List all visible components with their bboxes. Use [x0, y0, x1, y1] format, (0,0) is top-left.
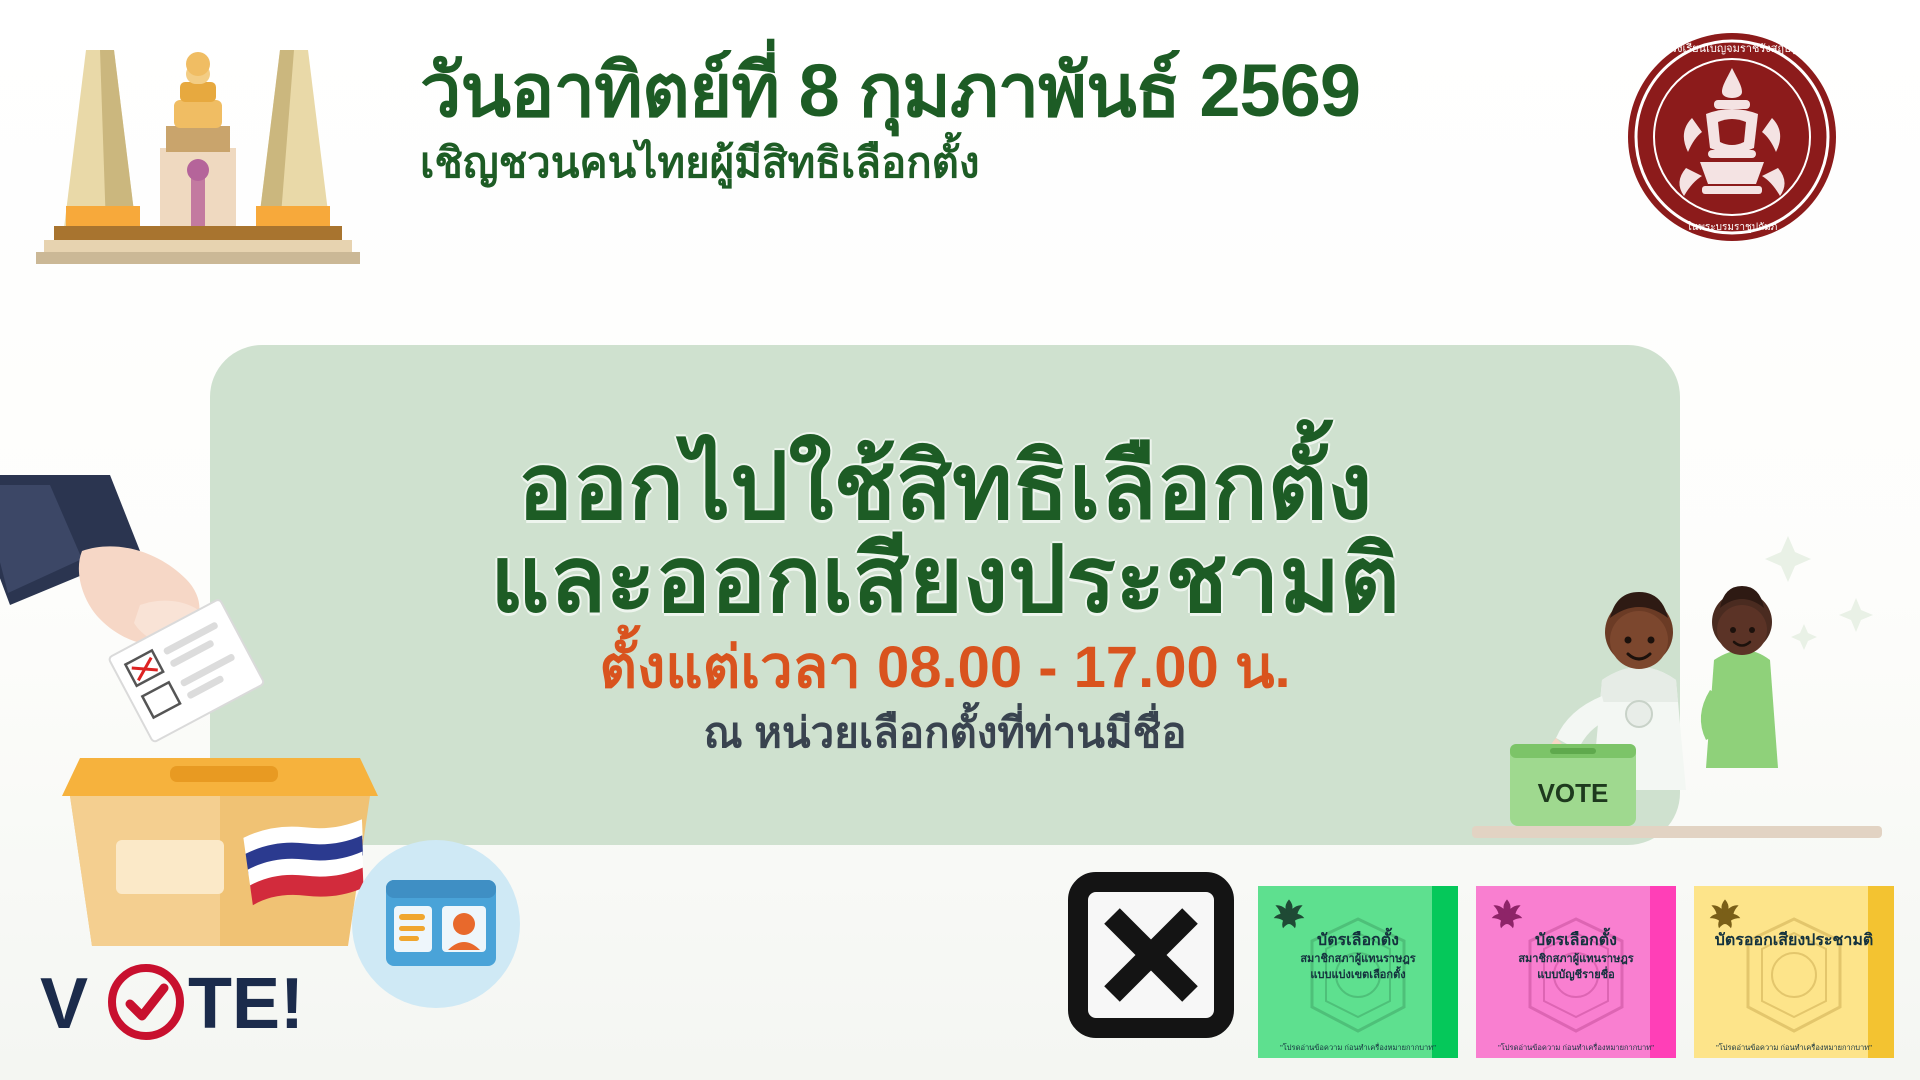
id-card-icon — [386, 880, 496, 966]
card-note: "โปรดอ่านข้อความ ก่อนทำเครื่องหมายกากบาท… — [1694, 1044, 1894, 1052]
ballot-cards-group: บัตรเลือกตั้ง สมาชิกสภาผู้แทนราษฎร แบบแบ… — [1258, 886, 1894, 1058]
election-poster: วันอาทิตย์ที่ 8 กุมภาพันธ์ 2569 เชิญชวนค… — [0, 0, 1920, 1080]
ballot-card-green: บัตรเลือกตั้ง สมาชิกสภาผู้แทนราษฎร แบบแบ… — [1258, 886, 1458, 1058]
x-mark-checkbox-icon — [1068, 872, 1234, 1038]
card-note: "โปรดอ่านข้อความ ก่อนทำเครื่องหมายกากบาท… — [1476, 1044, 1676, 1052]
card-sub-1: สมาชิกสภาผู้แทนราษฎร — [1264, 953, 1452, 967]
header-date: วันอาทิตย์ที่ 8 กุมภาพันธ์ 2569 — [420, 52, 1620, 130]
card-title: บัตรเลือกตั้ง — [1264, 932, 1452, 950]
vote-logo: V TE! — [40, 962, 370, 1048]
card-title: บัตรออกเสียงประชามติ — [1700, 932, 1888, 950]
voting-place-line: ณ หน่วยเลือกตั้งที่ท่านมีชื่อ — [704, 708, 1187, 758]
seal-top-text: โรงเรียนเบญจมราชรังสฤษฎิ์ — [1665, 40, 1800, 55]
garuda-emblem-icon — [1708, 896, 1742, 930]
ballot-box-icon — [60, 700, 400, 960]
card-sub-1: สมาชิกสภาผู้แทนราษฎร — [1482, 953, 1670, 967]
voting-time-line: ตั้งแต่เวลา 08.00 - 17.00 น. — [599, 635, 1290, 702]
card-title: บัตรเลือกตั้ง — [1482, 932, 1670, 950]
garuda-emblem-icon — [1272, 896, 1306, 930]
header-text-block: วันอาทิตย์ที่ 8 กุมภาพันธ์ 2569 เชิญชวนค… — [420, 52, 1620, 188]
people-voting-icon: VOTE — [1452, 500, 1892, 840]
ballot-card-yellow: บัตรออกเสียงประชามติ "โปรดอ่านข้อความ ก่… — [1694, 886, 1894, 1058]
seal-bottom-text: ในพระบรมราชูปถัมภ์ — [1687, 221, 1778, 233]
card-note: "โปรดอ่านข้อความ ก่อนทำเครื่องหมายกากบาท… — [1258, 1044, 1458, 1052]
ballot-card-pink: บัตรเลือกตั้ง สมาชิกสภาผู้แทนราษฎร แบบบั… — [1476, 886, 1676, 1058]
vote-logo-text: V — [40, 964, 88, 1044]
democracy-monument-icon — [28, 20, 368, 290]
garuda-emblem-icon — [1490, 896, 1524, 930]
headline-line-1: ออกไปใช้สิทธิเลือกตั้ง — [518, 438, 1373, 537]
card-sub-2: แบบบัญชีรายชื่อ — [1482, 969, 1670, 983]
card-sub-2: แบบแบ่งเขตเลือกตั้ง — [1264, 969, 1452, 983]
header-subtitle: เชิญชวนคนไทยผู้มีสิทธิเลือกตั้ง — [420, 138, 1620, 188]
svg-text:TE!: TE! — [188, 964, 304, 1044]
school-seal-icon: โรงเรียนเบญจมราชรังสฤษฎิ์ ในพระบรมราชูปถ… — [1622, 22, 1842, 252]
headline-line-2: และออกเสียงประชามติ — [490, 531, 1399, 630]
people-box-label: VOTE — [1538, 778, 1609, 808]
